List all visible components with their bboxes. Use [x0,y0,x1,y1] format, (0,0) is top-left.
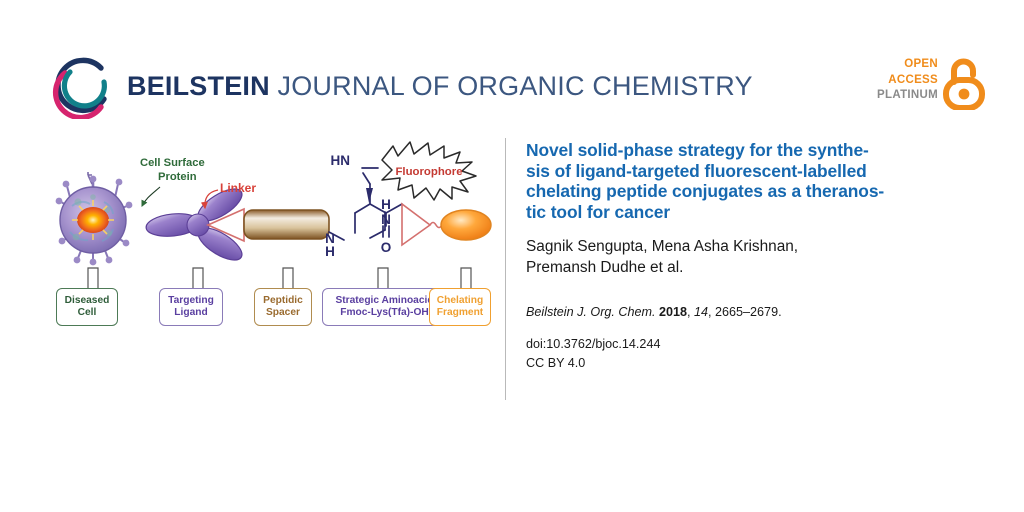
cell-surface-protein-annotation: Cell Surface Protein [140,157,205,206]
legend-diseased-cell-line2: Cell [65,307,110,319]
legend-box-chelating-fragment: Chelating Fragment [429,288,491,326]
legend-box-targeting-ligand: Targeting Ligand [159,288,223,326]
beilstein-logo-icon [52,57,114,119]
chelating-fragment-graphic [441,210,491,240]
citation-year: 2018 [659,305,687,319]
atom-label-h-lower: H [325,244,335,259]
atom-label-h-amide: H [381,197,391,212]
targeting-ligand-graphic [145,183,247,266]
legend-targeting-ligand-line1: Targeting [168,295,214,307]
stereocenter-wedge [366,188,373,203]
legend-diseased-cell-line1: Diseased [65,295,110,307]
journal-name-rest: JOURNAL OF ORGANIC CHEMISTRY [278,71,753,101]
journal-brand: BEILSTEIN [127,71,270,101]
open-access-text: OPEN ACCESS PLATINUM [872,57,938,104]
cell-surface-protein-label-line2: Protein [158,171,197,183]
strategic-aminoacid-structure [329,168,385,240]
article-title-line-4: tic tool for cancer [526,202,670,222]
atom-label-n-amide: N [381,212,391,227]
legend-box-peptidic-spacer: Peptidic Spacer [254,288,312,326]
open-lock-icon [942,58,986,110]
journal-title: BEILSTEIN JOURNAL OF ORGANIC CHEMISTRY [127,70,753,102]
legend-chelating-fragment-line1: Chelating [437,295,483,307]
citation-volume: 14 [694,305,708,319]
legend-box-diseased-cell: Diseased Cell [56,288,118,326]
article-license[interactable]: CC BY 4.0 [526,354,978,372]
citation-journal: Beilstein J. Org. Chem. [526,305,655,319]
legend-strategic-aminoacid-line2: Fmoc-Lys(Tfa)-OH [335,307,433,319]
authors-line-2: Premansh Dudhe et al. [526,259,683,276]
article-info-column: Novel solid-phase strategy for the synth… [526,140,978,372]
cell-surface-protein-arrow [142,187,160,206]
fluorophore-starburst: Fluorophore [382,142,476,200]
article-citation: Beilstein J. Org. Chem. 2018, 14, 2665–2… [526,304,978,321]
citation-pages: 2665–2679. [715,305,782,319]
article-teaser-page: BEILSTEIN JOURNAL OF ORGANIC CHEMISTRY O… [0,0,1024,512]
article-title[interactable]: Novel solid-phase strategy for the synth… [526,140,978,222]
legend-peptidic-spacer-line2: Spacer [263,307,303,319]
legend-targeting-ligand-line2: Ligand [168,307,214,319]
page-header: BEILSTEIN JOURNAL OF ORGANIC CHEMISTRY O… [0,0,1024,130]
linker-triangle-right [402,204,430,245]
open-access-badge: OPEN ACCESS PLATINUM [874,57,986,119]
cell-surface-protein-label-line1: Cell Surface [140,157,205,169]
article-authors: Sagnik Sengupta, Mena Asha Krishnan, Pre… [526,236,978,278]
peptidic-spacer-bar [244,210,329,239]
abstract-legend-boxes: Diseased Cell Targeting Ligand Peptidic … [48,288,493,332]
open-access-line-2: ACCESS [872,73,938,89]
diseased-cell-graphic [56,172,133,265]
article-title-line-3: chelating peptide conjugates as a theran… [526,181,884,201]
column-divider [505,138,506,400]
open-access-line-1: OPEN [872,57,938,73]
open-access-line-3: PLATINUM [872,88,938,104]
authors-line-1: Sagnik Sengupta, Mena Asha Krishnan, [526,238,798,255]
article-title-line-1: Novel solid-phase strategy for the synth… [526,140,869,160]
article-doi[interactable]: doi:10.3762/bjoc.14.244 [526,335,978,353]
atom-label-o-carbonyl: O [381,240,392,255]
atom-label-hn: HN [331,153,351,168]
legend-strategic-aminoacid-line1: Strategic Aminoacid [335,295,433,307]
article-title-line-2: sis of ligand-targeted fluorescent-label… [526,161,867,181]
legend-peptidic-spacer-line1: Peptidic [263,295,303,307]
fluorophore-label: Fluorophore [395,166,462,178]
legend-chelating-fragment-line2: Fragment [437,307,483,319]
linker-label: Linker [220,181,256,195]
